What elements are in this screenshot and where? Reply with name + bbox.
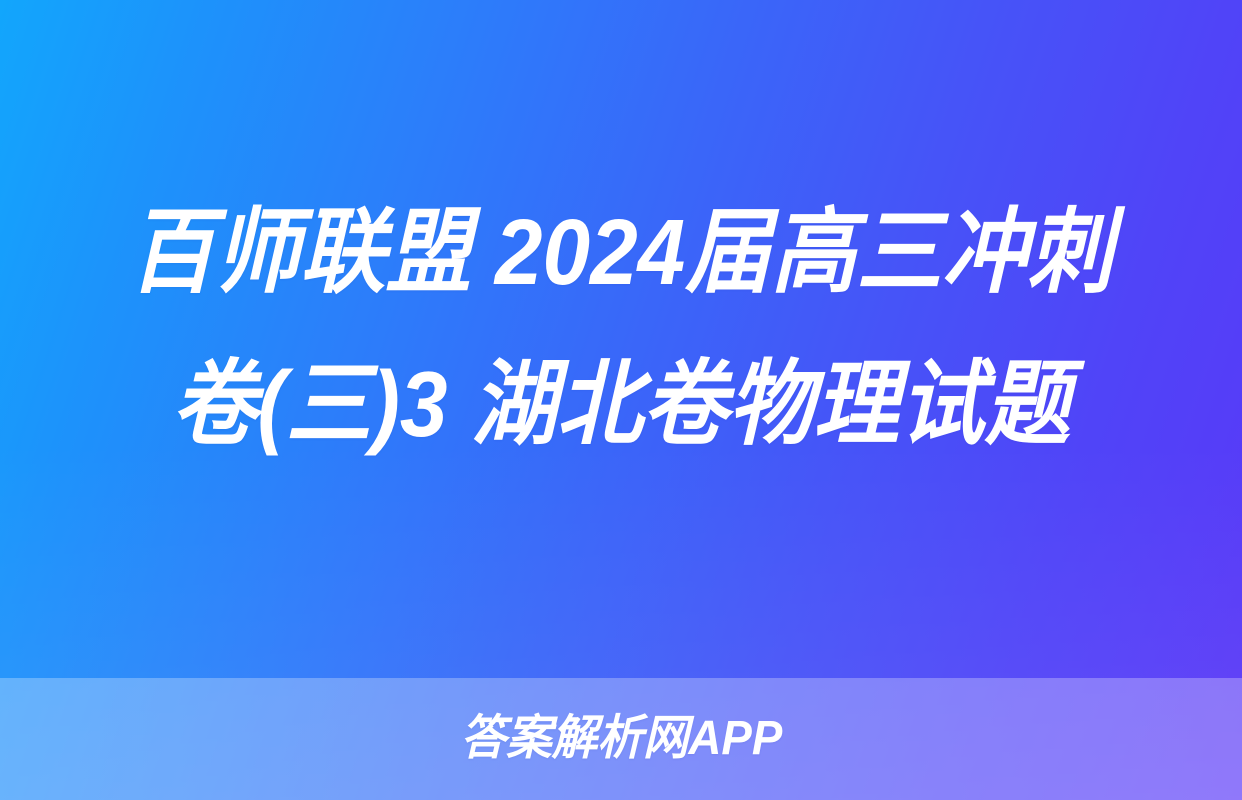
watermark-band: 答案解析网APP (0, 678, 1242, 800)
title-card: 百师联盟 2024届高三冲刺卷(三)3 湖北卷物理试题 答案解析网APP (0, 0, 1242, 800)
watermark-label: 答案解析网APP (460, 715, 782, 763)
page-title-text: 百师联盟 2024届高三冲刺卷(三)3 湖北卷物理试题 (116, 176, 1126, 480)
page-title: 百师联盟 2024届高三冲刺卷(三)3 湖北卷物理试题 (0, 176, 1242, 480)
